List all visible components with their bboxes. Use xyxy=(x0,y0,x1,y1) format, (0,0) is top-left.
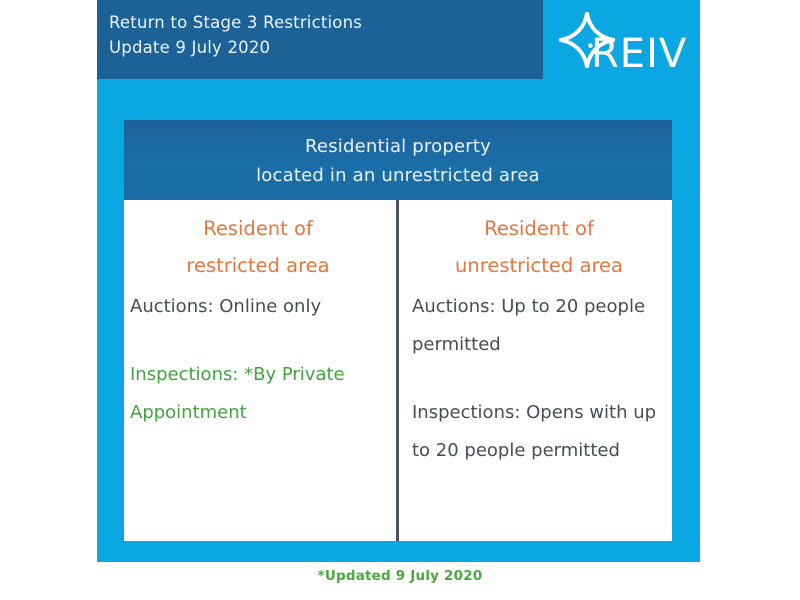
column-heading-unrestricted: Resident of unrestricted area xyxy=(412,210,666,284)
restricted-inspections-text: Inspections: *By Private Appointment xyxy=(130,356,386,432)
unrestricted-auctions-text: Auctions: Up to 20 people permitted xyxy=(412,288,666,364)
column-heading-restricted: Resident of restricted area xyxy=(130,210,386,284)
infographic-canvas: Return to Stage 3 Restrictions Update 9 … xyxy=(0,0,800,600)
table-header-line-2: located in an unrestricted area xyxy=(124,161,672,190)
table-header-line-1: Residential property xyxy=(124,132,672,161)
unrestricted-inspections-text: Inspections: Opens with up to 20 people … xyxy=(412,394,666,470)
column-restricted-resident: Resident of restricted area Auctions: On… xyxy=(124,200,398,541)
table-header: Residential property located in an unres… xyxy=(124,120,672,200)
reiv-logo: REIV xyxy=(553,8,693,88)
column-unrestricted-resident: Resident of unrestricted area Auctions: … xyxy=(398,200,672,541)
reiv-wordmark: REIV xyxy=(591,32,687,76)
restricted-auctions-text: Auctions: Online only xyxy=(130,288,386,326)
title-banner: Return to Stage 3 Restrictions Update 9 … xyxy=(97,0,543,79)
title-line-2: Update 9 July 2020 xyxy=(109,35,543,60)
footer-update-note: *Updated 9 July 2020 xyxy=(0,568,800,584)
column-divider xyxy=(396,200,399,541)
title-line-1: Return to Stage 3 Restrictions xyxy=(109,10,543,35)
restrictions-table: Residential property located in an unres… xyxy=(124,120,672,541)
